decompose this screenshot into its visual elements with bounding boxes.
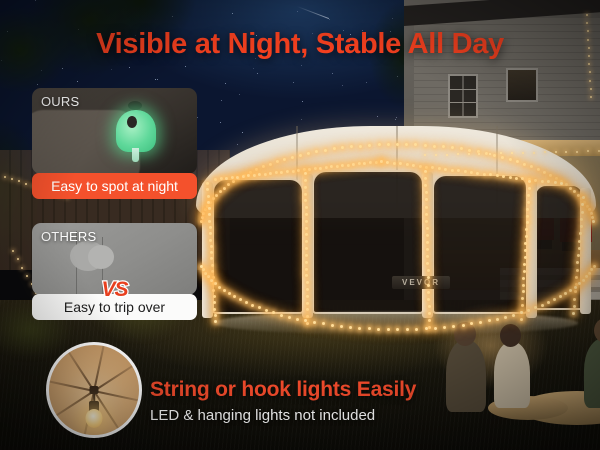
tent-leg-3	[422, 172, 433, 318]
card-ours-label: OURS	[41, 94, 79, 109]
glow-in-dark-stake-icon	[116, 110, 156, 152]
vs-badge: VS	[32, 278, 197, 302]
house-window-left	[448, 74, 478, 118]
comparison-module: OURS Easy to spot at night VS OTHERS Eas…	[32, 88, 197, 320]
card-ours-banner: Easy to spot at night	[32, 173, 197, 199]
house-window-right	[506, 68, 538, 102]
others-stake-icon-2	[88, 245, 114, 269]
feature-caption: String or hook lights Easily LED & hangi…	[150, 378, 590, 424]
hanging-bulb-icon	[86, 409, 103, 428]
promo-image: VEVOR Visible at Night, Stable All Day O…	[0, 0, 600, 450]
feature-subtitle: LED & hanging lights not included	[150, 407, 590, 424]
card-ours: OURS	[32, 88, 197, 174]
window-muntins	[450, 76, 476, 116]
tent-leg-4	[526, 178, 537, 318]
feature-title: String or hook lights Easily	[150, 378, 590, 402]
ceiling-light-inset	[46, 342, 142, 438]
card-others-label: OTHERS	[41, 229, 96, 244]
person-1-head	[454, 322, 476, 346]
screen-house-tent: VEVOR	[196, 126, 596, 336]
tent-leg-group	[196, 126, 596, 336]
page-title: Visible at Night, Stable All Day	[0, 28, 600, 61]
ours-stake-cap-icon	[128, 101, 142, 110]
person-2-head	[500, 324, 521, 347]
vevor-logo: VEVOR	[392, 276, 450, 289]
